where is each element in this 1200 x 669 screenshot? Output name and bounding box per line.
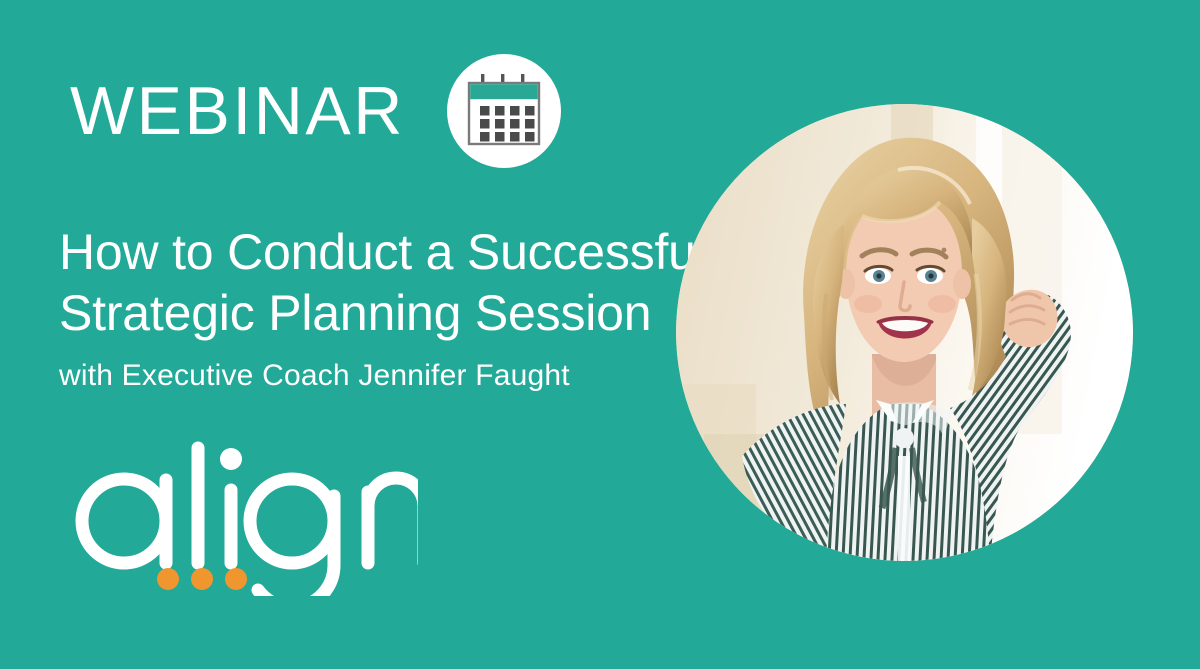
- eyebrow-row: WEBINAR: [70, 56, 561, 166]
- logo-dot-3: [225, 568, 247, 590]
- page-title-line-2: Strategic Planning Session: [59, 283, 659, 344]
- calendar-badge: [447, 54, 561, 168]
- speaker-portrait: [676, 104, 1133, 561]
- page-subtitle: with Executive Coach Jennifer Faught: [59, 358, 570, 394]
- page-title-line-1: How to Conduct a Successful: [59, 222, 659, 283]
- speaker-photo-illustration: [676, 104, 1133, 561]
- align-wordmark-icon: [68, 436, 418, 596]
- logo-dot-1: [157, 568, 179, 590]
- logo-i-dot: [220, 448, 242, 470]
- page-title: How to Conduct a Successful Strategic Pl…: [59, 222, 659, 344]
- webinar-promo-graphic: WEBINAR: [0, 0, 1200, 669]
- calendar-icon: [466, 74, 542, 148]
- logo-dot-2: [191, 568, 213, 590]
- eyebrow-label: WEBINAR: [70, 77, 405, 145]
- align-logo: [68, 436, 418, 596]
